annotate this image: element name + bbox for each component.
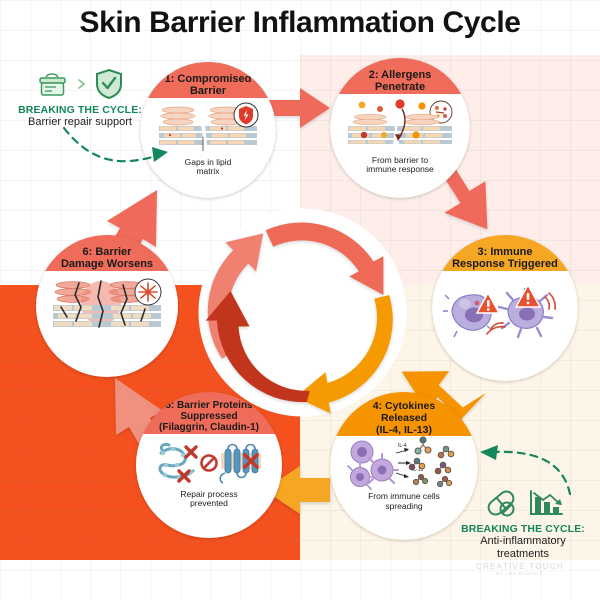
intervention-1-arrow [60, 120, 200, 180]
node-2-caption: From barrier toimmune response [358, 156, 442, 176]
allergens-entering-skin-icon [346, 97, 454, 155]
watermark-line-2: BY JOE DANIELS [455, 571, 585, 576]
intervention-2-arrow [452, 440, 582, 500]
cracked-skin-layers-icon [51, 277, 163, 341]
infographic-canvas: Skin Barrier Inflammation Cycle [0, 0, 600, 600]
intervention-2-body: Anti-inflammatorytreatments [448, 535, 598, 561]
immune-cells-alert-icon [445, 277, 565, 349]
node-5-caption: Repair processprevented [172, 490, 245, 510]
watermark-line-1: CREATIVE TOUCH [455, 562, 585, 571]
suppressed-proteins-icon [153, 437, 265, 489]
node-allergens-penetrate[interactable]: 2: AllergensPenetrate [330, 58, 470, 198]
node-immune-response-triggered[interactable]: 3: ImmuneResponse Triggered [432, 235, 578, 381]
cream-jar-icon [36, 69, 70, 99]
node-barrier-proteins-suppressed[interactable]: 5: Barrier ProteinsSuppressed(Filaggrin,… [136, 392, 282, 538]
cytokine-release-icon: IL-4 IL-13 [346, 439, 462, 491]
svg-text:IL-4: IL-4 [398, 443, 407, 449]
watermark: CREATIVE TOUCH BY JOE DANIELS [455, 562, 585, 576]
cycle-arrow-ring [195, 205, 410, 420]
intervention-1-icons [4, 68, 156, 100]
node-barrier-damage-worsens[interactable]: 6: BarrierDamage Worsens [36, 235, 178, 377]
node-4-caption: From immune cellsspreading [360, 492, 448, 512]
shield-check-icon [94, 68, 124, 100]
intervention-2-heading: BREAKING THE CYCLE: [448, 523, 598, 535]
chevron-right-icon [76, 77, 88, 91]
intervention-1-heading: BREAKING THE CYCLE: [4, 104, 156, 116]
